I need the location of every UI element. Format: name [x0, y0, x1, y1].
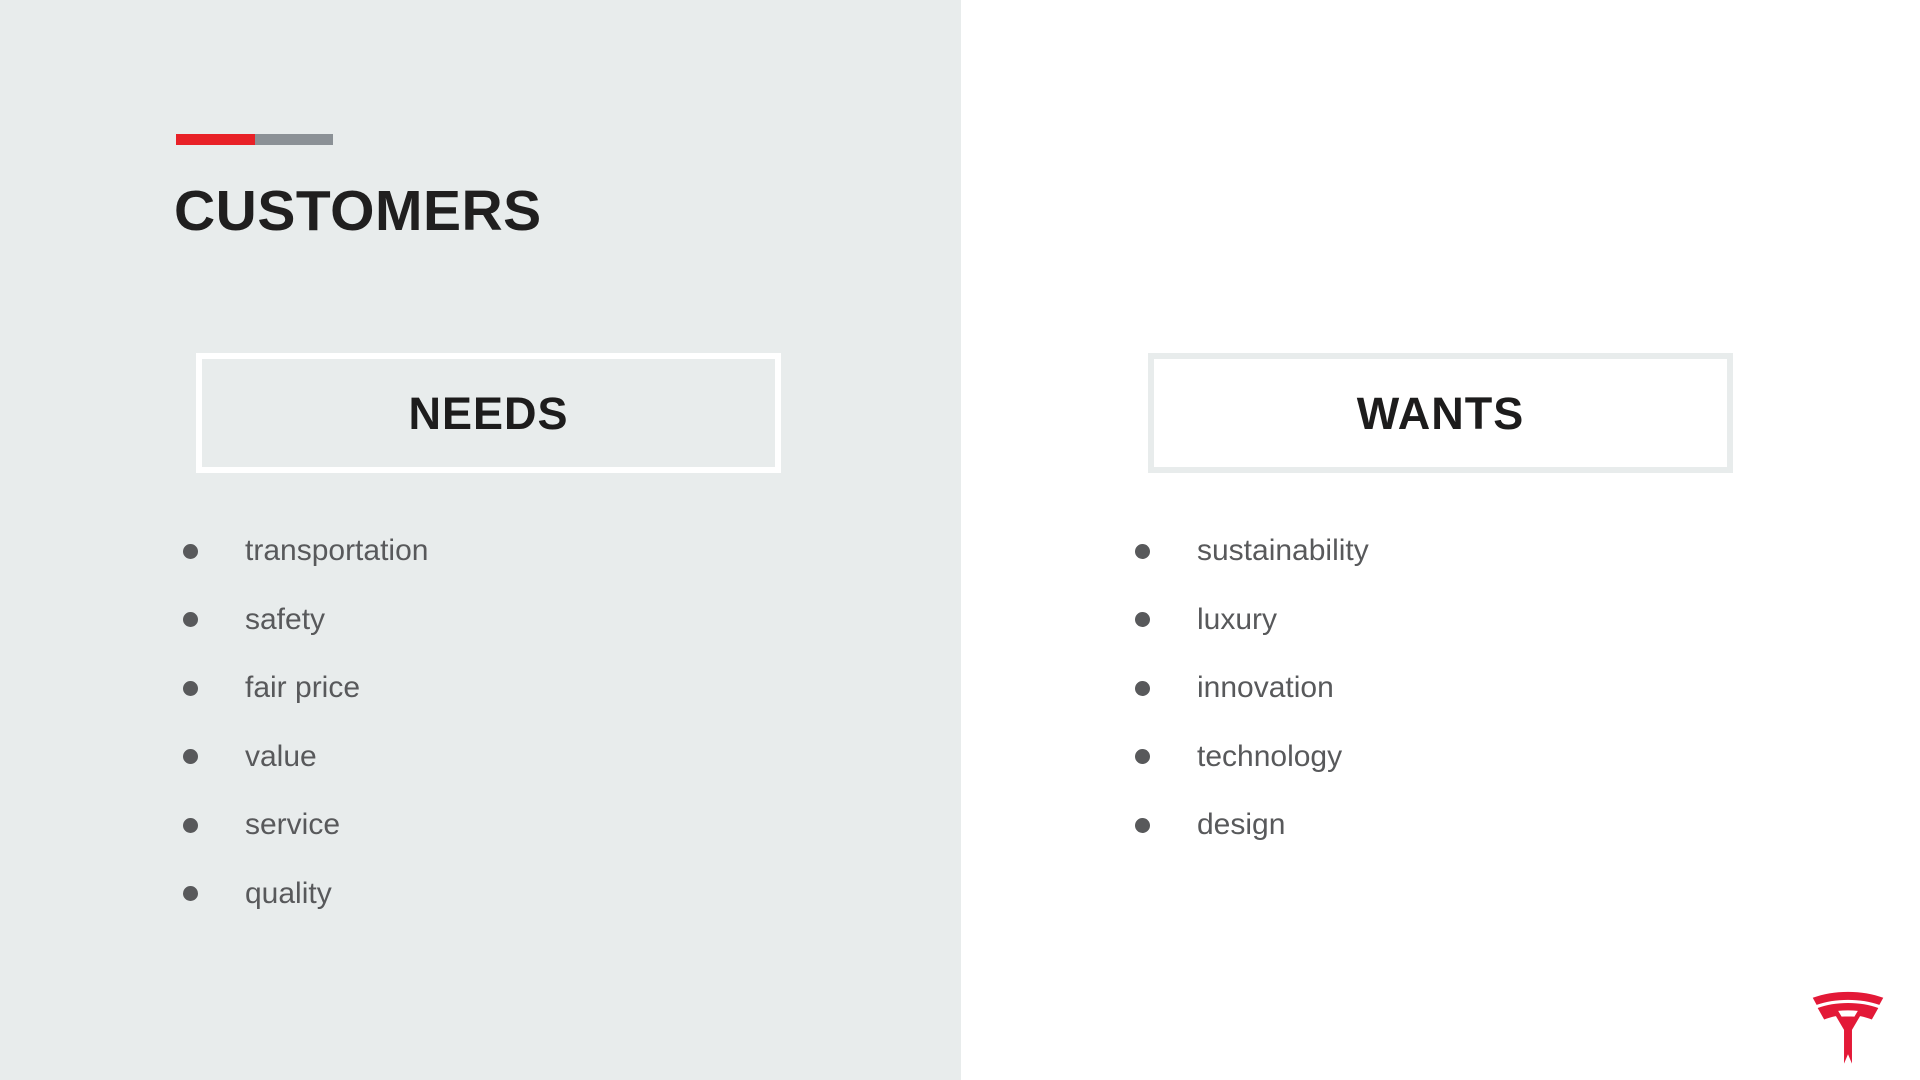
list-item: service	[178, 791, 798, 860]
list-item-label: technology	[1197, 742, 1342, 772]
list-item: value	[178, 723, 798, 792]
bullet-icon	[183, 681, 198, 696]
list-item-label: value	[245, 742, 317, 772]
list-item: fair price	[178, 654, 798, 723]
slide-root: CUSTOMERS NEEDS WANTS transportation saf…	[0, 0, 1920, 1080]
bullet-icon	[1135, 612, 1150, 627]
tesla-logo	[1806, 972, 1890, 1064]
list-item: sustainability	[1130, 517, 1750, 586]
accent-rule-gray-segment	[255, 134, 333, 145]
list-item: safety	[178, 586, 798, 655]
list-item-label: luxury	[1197, 605, 1277, 635]
bullet-icon	[1135, 749, 1150, 764]
accent-rule-red-segment	[176, 134, 255, 145]
list-item-label: service	[245, 810, 340, 840]
bullet-icon	[183, 544, 198, 559]
accent-rule	[176, 134, 333, 145]
page-title: CUSTOMERS	[174, 182, 542, 242]
list-item-label: safety	[245, 605, 325, 635]
needs-heading-label: NEEDS	[408, 391, 568, 436]
list-item-label: innovation	[1197, 673, 1334, 703]
bullet-icon	[183, 749, 198, 764]
list-item-label: design	[1197, 810, 1285, 840]
list-item: technology	[1130, 723, 1750, 792]
list-item: design	[1130, 791, 1750, 860]
bullet-icon	[183, 886, 198, 901]
needs-heading-box: NEEDS	[196, 353, 781, 473]
bullet-icon	[1135, 681, 1150, 696]
list-item: innovation	[1130, 654, 1750, 723]
wants-list: sustainability luxury innovation technol…	[1130, 517, 1750, 860]
list-item: transportation	[178, 517, 798, 586]
bullet-icon	[1135, 544, 1150, 559]
list-item: quality	[178, 860, 798, 929]
bullet-icon	[1135, 818, 1150, 833]
list-item: luxury	[1130, 586, 1750, 655]
wants-heading-box: WANTS	[1148, 353, 1733, 473]
bullet-icon	[183, 818, 198, 833]
wants-heading-label: WANTS	[1357, 391, 1525, 436]
list-item-label: transportation	[245, 536, 428, 566]
needs-list: transportation safety fair price value s…	[178, 517, 798, 928]
bullet-icon	[183, 612, 198, 627]
list-item-label: fair price	[245, 673, 360, 703]
list-item-label: sustainability	[1197, 536, 1369, 566]
list-item-label: quality	[245, 879, 332, 909]
